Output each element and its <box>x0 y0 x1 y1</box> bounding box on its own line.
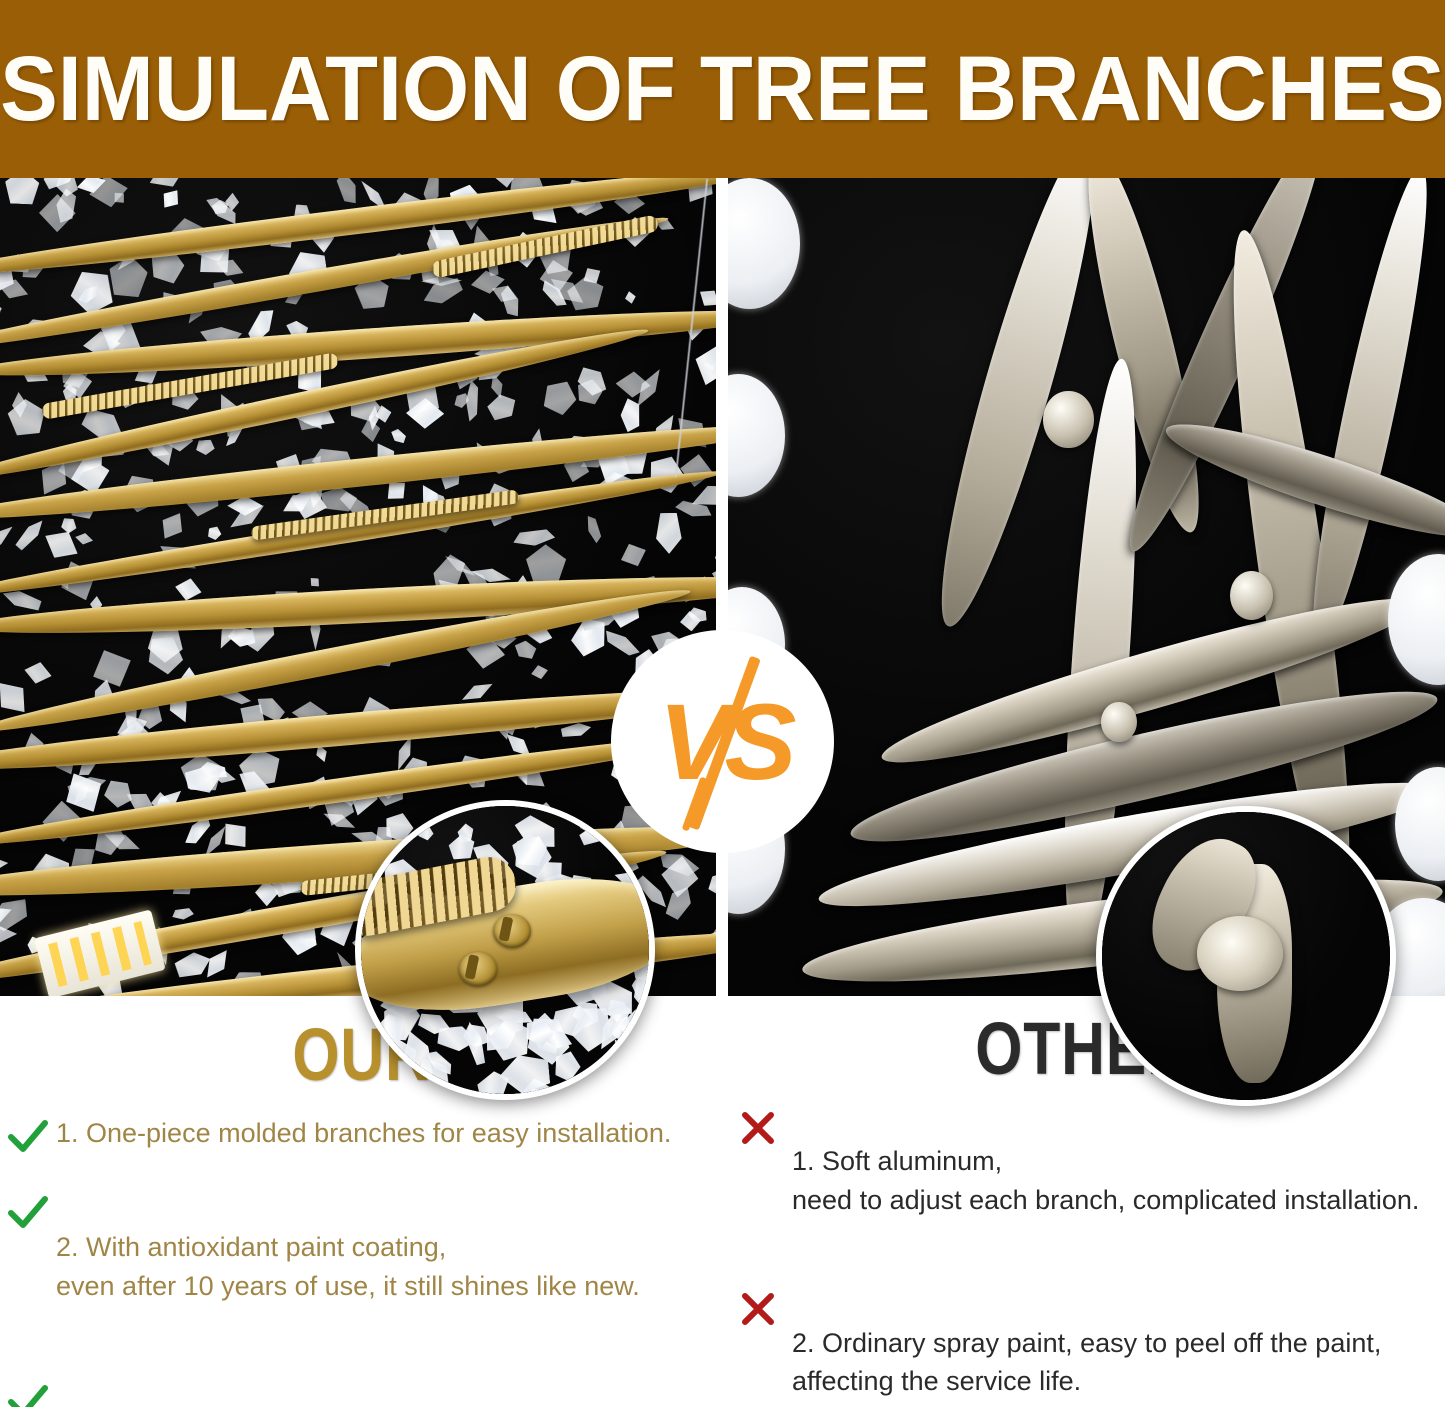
magnifier-our-detail <box>355 800 655 1100</box>
crystal-shard <box>39 523 86 567</box>
x-icon <box>740 1104 792 1146</box>
crystal-shard <box>205 525 223 543</box>
crystal-shard <box>157 185 184 213</box>
list-item-text: 3. Fewer welding points at the branch ch… <box>56 1379 505 1407</box>
list-item: 1. One-piece molded branches for easy in… <box>8 1114 722 1154</box>
vs-label: VS <box>658 688 790 796</box>
crystal-shard <box>601 626 642 659</box>
crystal-shard <box>155 507 190 544</box>
photo-divider <box>716 178 728 996</box>
crystal-shard <box>616 539 650 571</box>
crystal-shard <box>86 642 139 695</box>
vs-badge: VS <box>611 630 834 853</box>
crystal-shard <box>624 290 637 305</box>
list-item-line1: 1. Soft aluminum, <box>792 1146 1002 1176</box>
list-item-line2: even after 10 years of use, it still shi… <box>56 1267 640 1305</box>
crystal-shard <box>695 284 716 312</box>
crystal-shard <box>389 427 409 446</box>
crystal-shard <box>74 531 94 546</box>
other-drawback-list: 1. Soft aluminum, need to adjust each br… <box>722 1104 1445 1407</box>
list-item-line1: 2. With antioxidant paint coating, <box>56 1232 446 1262</box>
screw-icon <box>493 914 531 948</box>
page-title: SIMULATION OF TREE BRANCHES <box>0 43 1445 135</box>
list-item-line2: need to adjust each branch, complicated … <box>792 1181 1419 1219</box>
crystal-shard <box>512 528 556 548</box>
crystal-shard <box>195 440 215 456</box>
weld-lump <box>1197 916 1283 991</box>
list-item-line2: affecting the service life. <box>792 1362 1381 1400</box>
check-icon <box>8 1190 60 1230</box>
crystal-shard <box>334 178 361 207</box>
crystal-shard <box>14 516 48 552</box>
crystal-shard <box>584 514 603 545</box>
crystal-shard <box>0 293 3 321</box>
crystal-shard <box>656 512 682 553</box>
crystal-shard <box>511 637 537 661</box>
crystal-shard <box>530 663 550 681</box>
list-item: 1. Soft aluminum, need to adjust each br… <box>740 1104 1445 1257</box>
crystal-shard <box>538 374 581 417</box>
crystal-shard <box>0 521 16 557</box>
header-banner: SIMULATION OF TREE BRANCHES <box>0 0 1445 178</box>
check-icon <box>8 1379 60 1407</box>
crystal-shard <box>307 574 323 590</box>
welded-joint <box>1043 391 1093 448</box>
list-item-text: 1. Soft aluminum, need to adjust each br… <box>792 1104 1419 1257</box>
crystal-shard <box>58 514 79 535</box>
x-icon <box>740 1285 792 1327</box>
list-item: 2. With antioxidant paint coating, even … <box>8 1190 722 1343</box>
crystal-shard <box>22 659 54 687</box>
list-item-text: 2. Ordinary spray paint, easy to peel of… <box>792 1285 1381 1407</box>
crystal-shard <box>100 773 138 811</box>
crystal-shard <box>0 855 9 874</box>
comparison-infographic: SIMULATION OF TREE BRANCHES <box>0 0 1445 1407</box>
list-item: 3. Fewer welding points at the branch ch… <box>8 1379 722 1407</box>
photo-comparison-area: VS <box>0 178 1445 996</box>
magnifier-other-detail <box>1096 806 1396 1106</box>
crystal-shard <box>4 178 40 205</box>
crystal-shard <box>705 870 716 896</box>
list-item-text: 1. One-piece molded branches for easy in… <box>56 1114 671 1152</box>
crystal-shard <box>621 398 640 432</box>
check-icon <box>8 1114 60 1154</box>
list-item-line1: 2. Ordinary spray paint, easy to peel of… <box>792 1328 1381 1358</box>
welded-joint <box>1230 571 1273 620</box>
our-benefit-list: 1. One-piece molded branches for easy in… <box>0 1114 722 1407</box>
crystal-shard <box>145 178 191 195</box>
crystal-shard <box>485 390 521 425</box>
list-item: 2. Ordinary spray paint, easy to peel of… <box>740 1285 1445 1407</box>
crystal-shard <box>171 907 194 921</box>
list-item-text: 2. With antioxidant paint coating, even … <box>56 1190 640 1343</box>
screw-icon <box>459 952 497 986</box>
welded-joint <box>1101 702 1137 743</box>
